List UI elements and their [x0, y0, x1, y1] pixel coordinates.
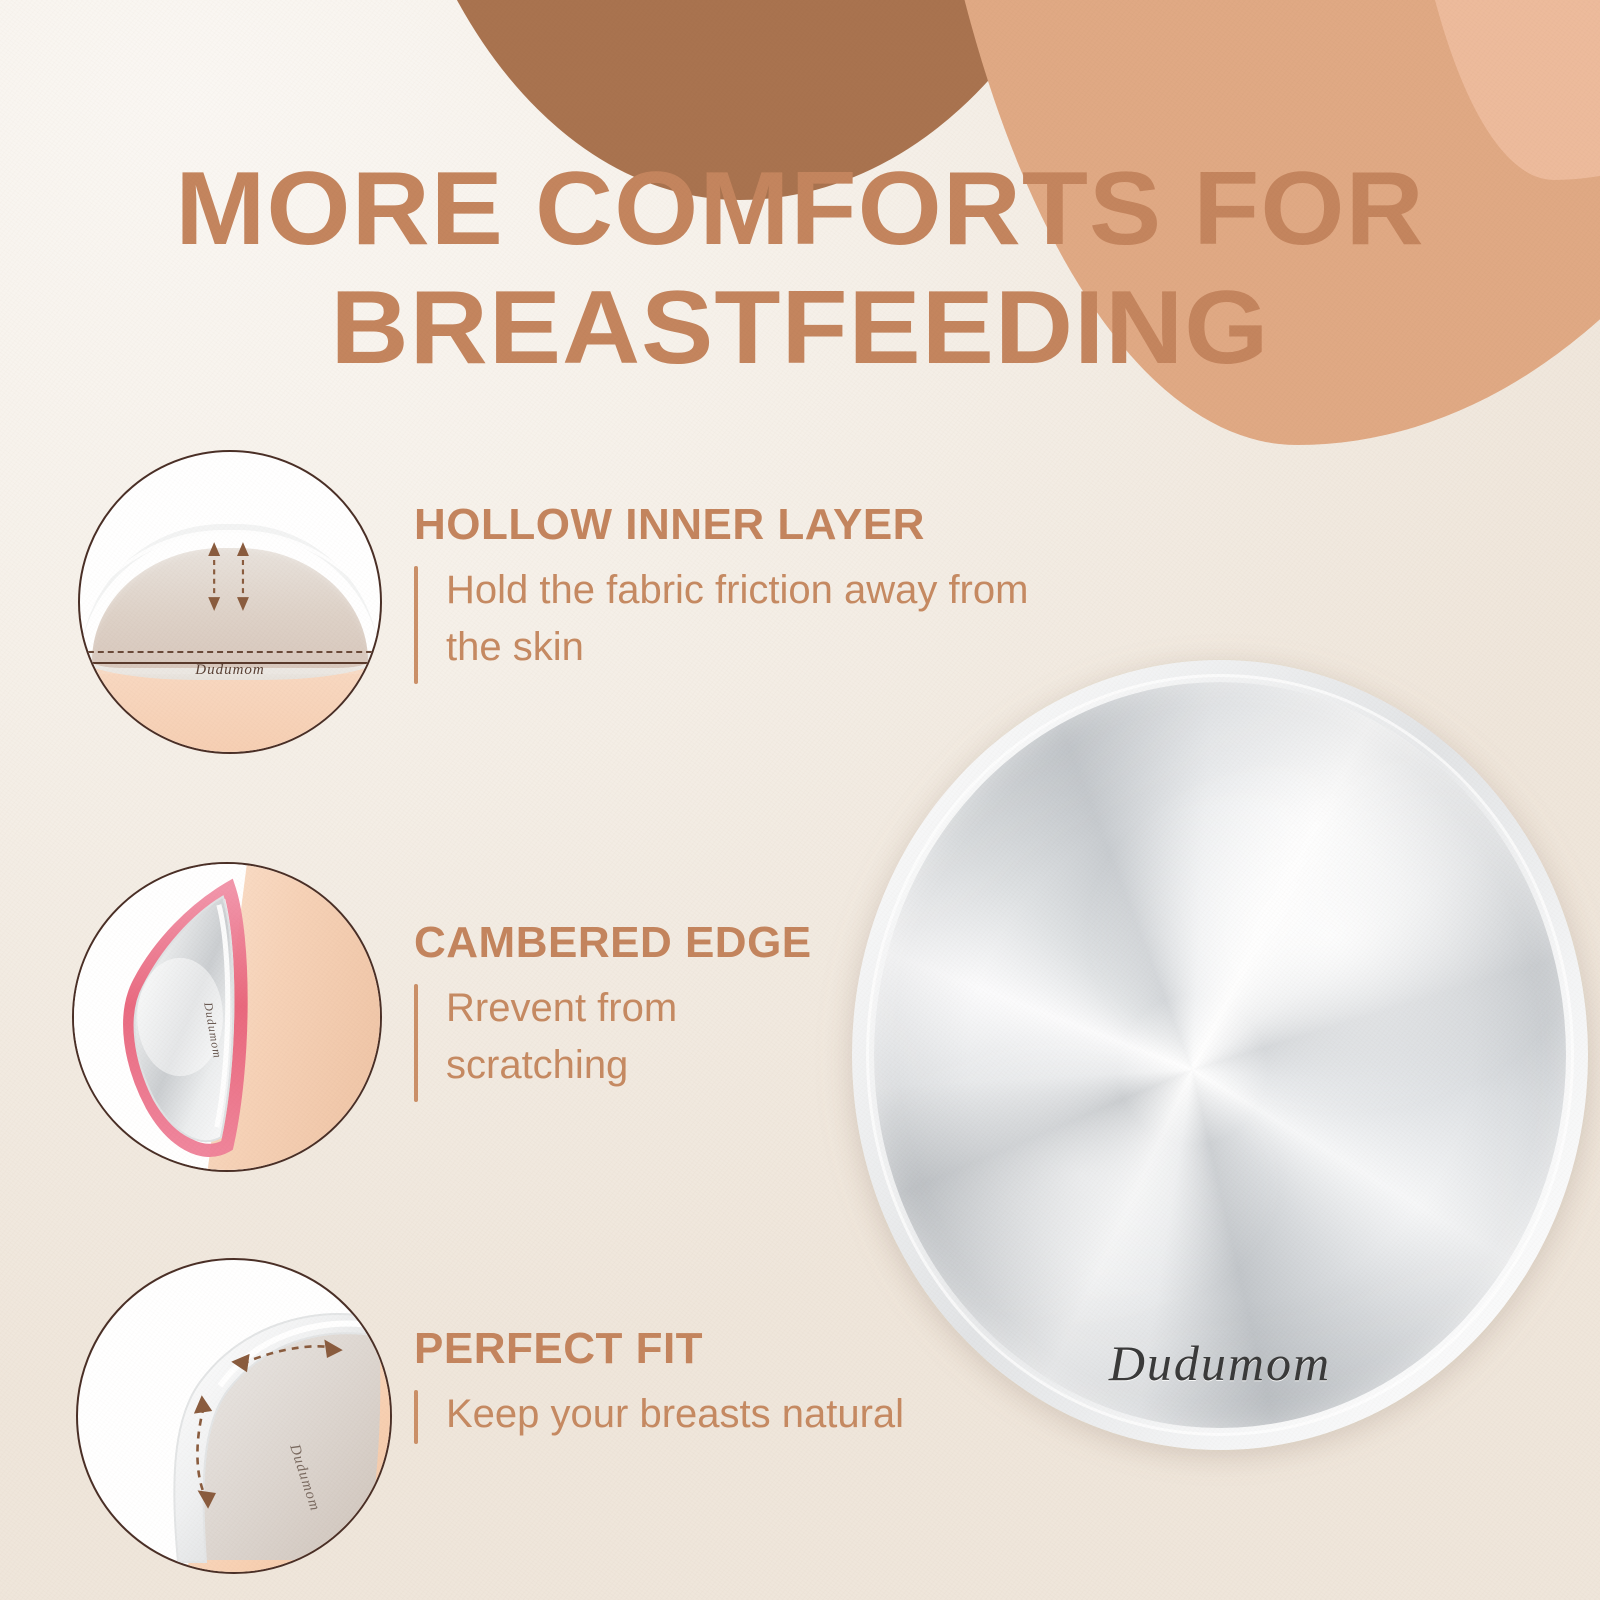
- feature-accent-bar: [414, 984, 418, 1102]
- feature-heading: PERFECT FIT: [414, 1326, 904, 1372]
- feature-block-perfect-fit: PERFECT FIT Keep your breasts natural: [414, 1326, 904, 1444]
- title-line-1: MORE COMFORTS FOR: [0, 150, 1600, 269]
- title-line-2: BREASTFEEDING: [0, 269, 1600, 388]
- thumb-1-scene: Dudumom: [80, 452, 380, 752]
- feature-body-row: Keep your breasts natural: [414, 1386, 904, 1444]
- feature-body: Keep your breasts natural: [446, 1386, 904, 1443]
- feature-heading: HOLLOW INNER LAYER: [414, 502, 1046, 548]
- feature-thumbnail-perfect-fit: Dudumom: [76, 1258, 392, 1574]
- feature-block-hollow-inner-layer: HOLLOW INNER LAYER Hold the fabric frict…: [414, 502, 1046, 684]
- shell-curved-edge-view: Dudumom: [78, 1260, 390, 1572]
- feature-heading: CAMBERED EDGE: [414, 920, 812, 966]
- infographic-canvas: MORE COMFORTS FOR BREASTFEEDING Dud: [0, 0, 1600, 1600]
- thumb-2-scene: Dudumom: [74, 864, 380, 1170]
- feature-accent-bar: [414, 566, 418, 684]
- thumb-1-brand-engraving: Dudumom: [80, 662, 380, 679]
- feature-thumbnail-hollow-inner-layer: Dudumom: [78, 450, 382, 754]
- feature-accent-bar: [414, 1390, 418, 1444]
- feature-block-cambered-edge: CAMBERED EDGE Rrevent from scratching: [414, 920, 812, 1102]
- product-inner-ring: [866, 674, 1574, 1436]
- hollow-gap-arrows-icon: [194, 542, 266, 614]
- shell-side-view: [74, 864, 380, 1170]
- feature-thumbnail-cambered-edge: Dudumom: [72, 862, 382, 1172]
- product-rim: Dudumom: [852, 660, 1588, 1450]
- feature-body-row: Rrevent from scratching: [414, 980, 812, 1102]
- feature-body: Hold the fabric friction away from the s…: [446, 562, 1046, 676]
- product-image-nursing-cup: Dudumom: [852, 660, 1588, 1450]
- baseline-dashed: [78, 651, 382, 653]
- thumb-3-scene: Dudumom: [78, 1260, 390, 1572]
- feature-body: Rrevent from scratching: [446, 980, 746, 1094]
- product-brand-engraving: Dudumom: [852, 1334, 1588, 1392]
- page-title: MORE COMFORTS FOR BREASTFEEDING: [0, 150, 1600, 387]
